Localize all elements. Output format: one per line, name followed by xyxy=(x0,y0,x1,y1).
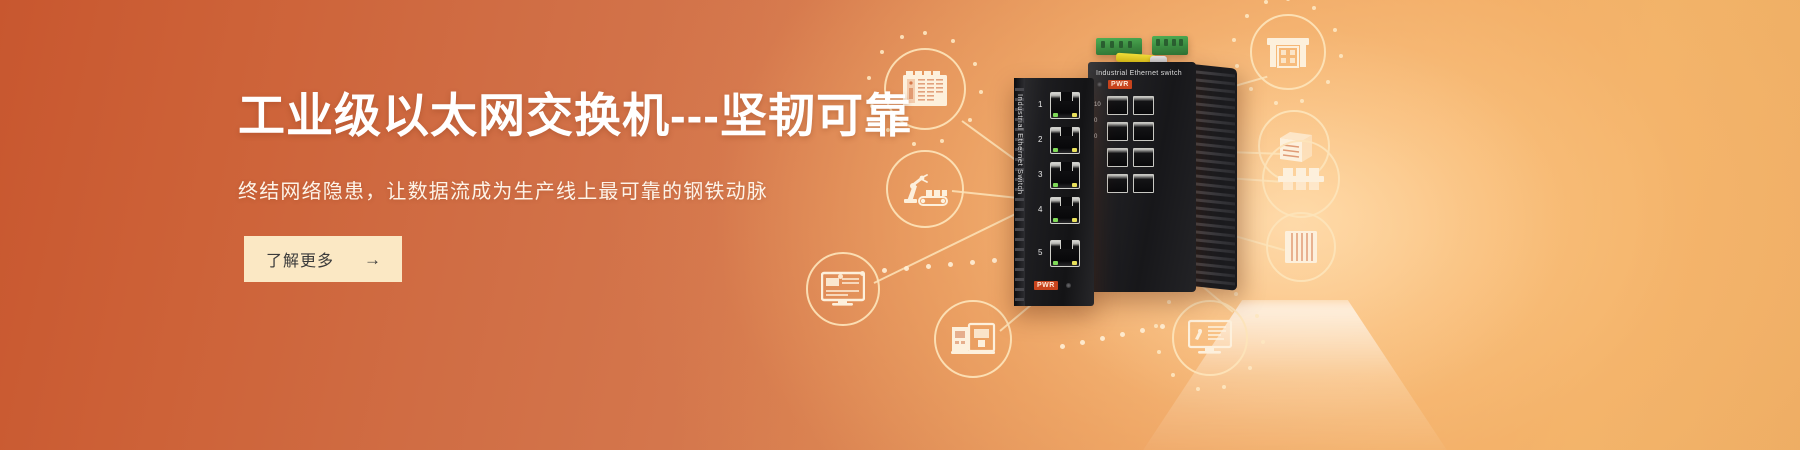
node-cabinet[interactable] xyxy=(1266,212,1336,282)
front-port-5[interactable] xyxy=(1050,240,1080,267)
page-title: 工业级以太网交换机---坚韧可靠 xyxy=(238,88,878,143)
rear-led-marks: 1000 xyxy=(1094,102,1101,140)
node-factory-gate[interactable] xyxy=(1250,14,1326,90)
industrial-ethernet-switch: Industrial Ethernet switch PWR 1000 xyxy=(1000,34,1250,324)
rear-port-2[interactable] xyxy=(1133,96,1154,115)
terminal-block-right xyxy=(1152,36,1188,55)
switch-front-unit: Industrial Ethernet Switch 1 2 3 4 5 PWR xyxy=(1014,78,1094,306)
rear-port-3[interactable] xyxy=(1107,122,1128,141)
front-port-label-2: 2 xyxy=(1038,135,1042,144)
front-port-label-3: 3 xyxy=(1038,170,1042,179)
front-port-label-4: 4 xyxy=(1038,205,1042,214)
node-robot-conveyor[interactable] xyxy=(886,150,964,228)
front-port-4[interactable] xyxy=(1050,197,1080,224)
switch-rear-unit: Industrial Ethernet switch PWR 1000 xyxy=(1088,62,1196,292)
status-led-front xyxy=(1066,283,1071,288)
arrow-right-icon: → xyxy=(364,251,382,268)
factory-gate-icon xyxy=(1266,35,1310,69)
rear-port-5[interactable] xyxy=(1107,148,1128,167)
switch-horizontal-label: Industrial Ethernet switch xyxy=(1096,70,1182,77)
pwr-label-rear: PWR xyxy=(1108,80,1132,89)
hero-banner: Industrial Ethernet switch PWR 1000 xyxy=(0,0,1800,450)
status-led-rear xyxy=(1097,82,1102,87)
rear-port-4[interactable] xyxy=(1133,122,1154,141)
rear-port-7[interactable] xyxy=(1107,174,1128,193)
robot-conveyor-icon xyxy=(901,171,949,207)
front-port-1[interactable] xyxy=(1050,92,1080,119)
front-port-3[interactable] xyxy=(1050,162,1080,189)
page-subtitle: 终结网络隐患，让数据流成为生产线上最可靠的钢铁动脉 xyxy=(238,175,878,204)
banner-content: 工业级以太网交换机---坚韧可靠 终结网络隐患，让数据流成为生产线上最可靠的钢铁… xyxy=(238,88,878,282)
rear-port-8[interactable] xyxy=(1133,174,1154,193)
din-rail-icon xyxy=(1277,164,1325,194)
front-port-2[interactable] xyxy=(1050,127,1080,154)
cabinet-icon xyxy=(1283,229,1319,265)
rear-port-6[interactable] xyxy=(1133,148,1154,167)
node-din-rail[interactable] xyxy=(1262,140,1340,218)
front-port-label-1: 1 xyxy=(1038,100,1042,109)
rear-port-1[interactable] xyxy=(1107,96,1128,115)
learn-more-button[interactable]: 了解更多 → xyxy=(244,236,402,282)
front-port-label-5: 5 xyxy=(1038,248,1042,257)
pwr-label-front: PWR xyxy=(1034,281,1058,290)
hmi-panel-icon xyxy=(1188,319,1232,357)
learn-more-label: 了解更多 xyxy=(266,247,334,271)
switch-vertical-label: Industrial Ethernet Switch xyxy=(1016,94,1025,214)
cnc-machine-icon xyxy=(950,321,996,357)
